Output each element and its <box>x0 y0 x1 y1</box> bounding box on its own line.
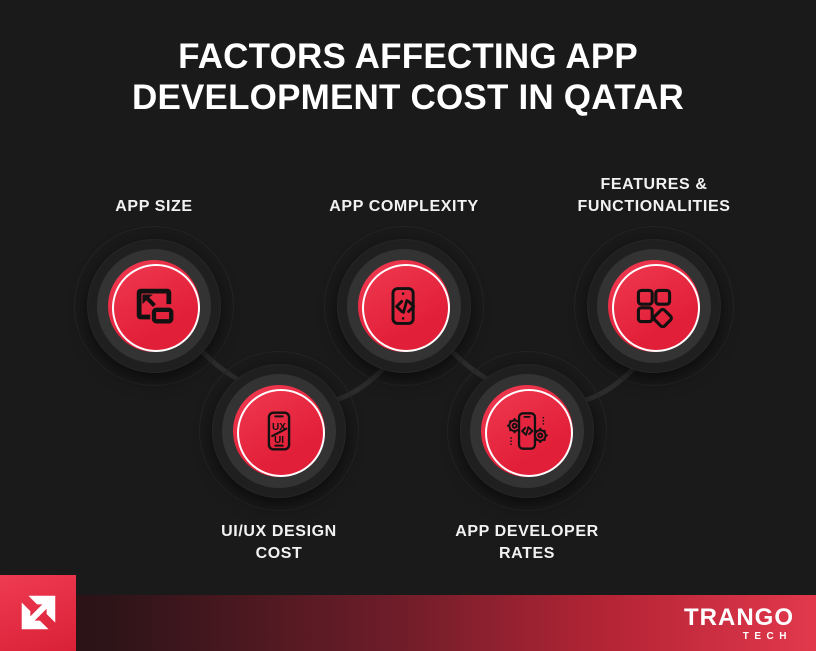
resize-window-icon <box>108 260 200 352</box>
phone-code-icon <box>358 260 450 352</box>
node-app-size[interactable] <box>88 240 220 372</box>
trango-arrow-logo[interactable] <box>0 575 76 651</box>
svg-text:UI: UI <box>274 435 284 446</box>
brand-sub: TECH <box>684 631 794 643</box>
page-title: FACTORS AFFECTING APP DEVELOPMENT COST I… <box>0 36 816 118</box>
label-line-1: APP COMPLEXITY <box>329 198 478 215</box>
node-app-developer-rates[interactable] <box>461 365 593 497</box>
label-app-developer-rates: APP DEVELOPER RATES <box>407 521 647 565</box>
svg-text:UX: UX <box>272 422 286 433</box>
footer-spacer <box>0 575 816 595</box>
node-disc <box>481 385 573 477</box>
node-disc <box>108 260 200 352</box>
label-app-complexity: APP COMPLEXITY <box>284 196 524 218</box>
grid-shapes-icon <box>608 260 700 352</box>
ux-ui-phone-icon: UX UI <box>233 385 325 477</box>
title-line-1: FACTORS AFFECTING APP <box>60 36 756 77</box>
label-ui-ux-design-cost: UI/UX DESIGN COST <box>159 521 399 565</box>
label-line-2: FUNCTIONALITIES <box>578 198 731 215</box>
label-line-1: UI/UX DESIGN <box>221 523 337 540</box>
node-ui-ux-design-cost[interactable]: UX UI <box>213 365 345 497</box>
brand-wordmark: TRANGO TECH <box>684 605 794 643</box>
arrow-logo-glyph <box>15 590 61 636</box>
label-line-1: APP DEVELOPER <box>455 523 599 540</box>
label-line-1: FEATURES & <box>600 176 707 193</box>
brand-name: TRANGO <box>684 605 794 631</box>
label-line-2: COST <box>256 545 303 562</box>
label-line-2: RATES <box>499 545 555 562</box>
infographic-canvas: FACTORS AFFECTING APP DEVELOPMENT COST I… <box>0 0 816 651</box>
footer-bar: TRANGO TECH <box>0 595 816 651</box>
title-line-2: DEVELOPMENT COST IN QATAR <box>60 77 756 118</box>
phone-gears-code-icon <box>481 385 573 477</box>
node-app-complexity[interactable] <box>338 240 470 372</box>
node-disc: UX UI <box>233 385 325 477</box>
label-features-functionalities: FEATURES & FUNCTIONALITIES <box>534 174 774 218</box>
label-line-1: APP SIZE <box>115 198 192 215</box>
node-disc <box>608 260 700 352</box>
node-features-functionalities[interactable] <box>588 240 720 372</box>
label-app-size: APP SIZE <box>34 196 274 218</box>
node-disc <box>358 260 450 352</box>
